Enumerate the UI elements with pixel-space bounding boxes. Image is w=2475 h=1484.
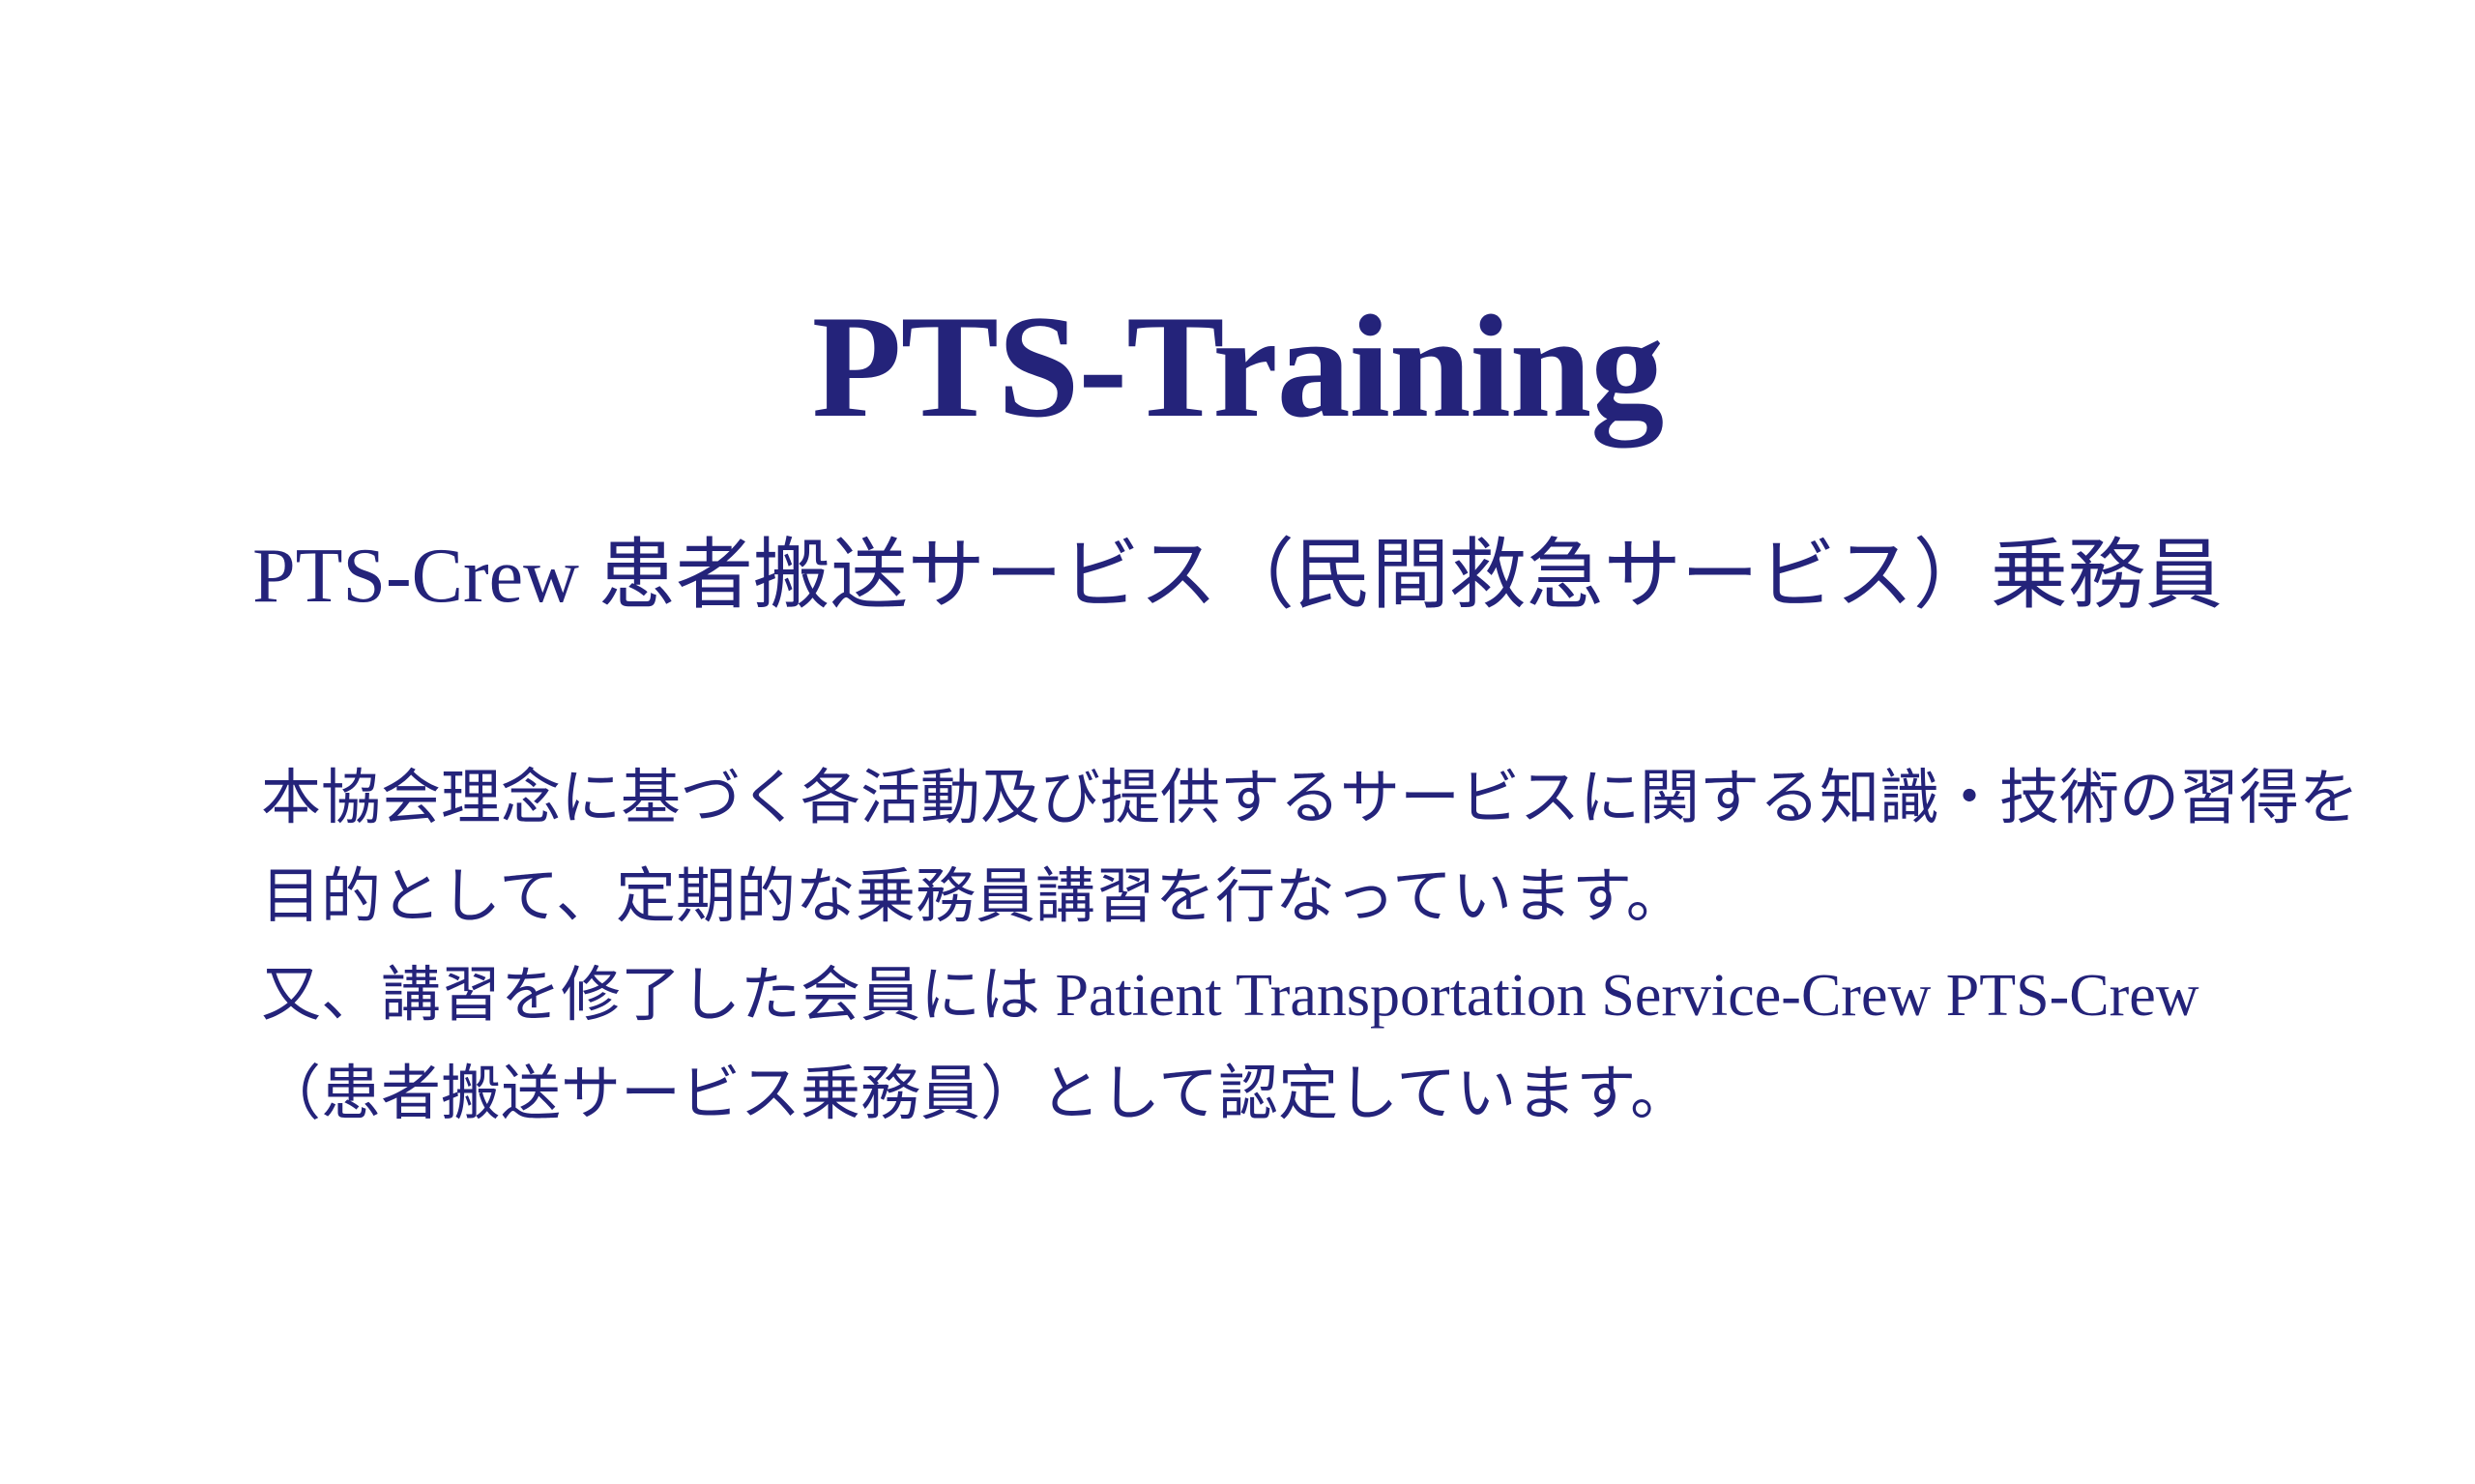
page-root: PTS-Training PTS-Crew 患者搬送サービス（民間救急サービス）… [0, 0, 2475, 1484]
body-line: 目的として、定期的な乗務員講習を行なっています。 [261, 848, 2253, 946]
body-line: 又、講習を修了した会員には Patient Transportation Ser… [261, 946, 2253, 1045]
body-paragraph: 本協会理念に基づく各活動及び提供するサービスに関する知識・技術の習得を 目的とし… [261, 749, 2253, 1144]
page-title: PTS-Training [812, 280, 1663, 453]
page-subtitle: PTS-Crew 患者搬送サービス（民間救急サービス）乗務員 [252, 526, 2223, 626]
subtitle-block: PTS-Crew 患者搬送サービス（民間救急サービス）乗務員 [0, 462, 2475, 691]
body-line: （患者搬送サービス乗務員）として認定しています。 [261, 1045, 2253, 1144]
body-line: 本協会理念に基づく各活動及び提供するサービスに関する知識・技術の習得を [261, 749, 2253, 848]
